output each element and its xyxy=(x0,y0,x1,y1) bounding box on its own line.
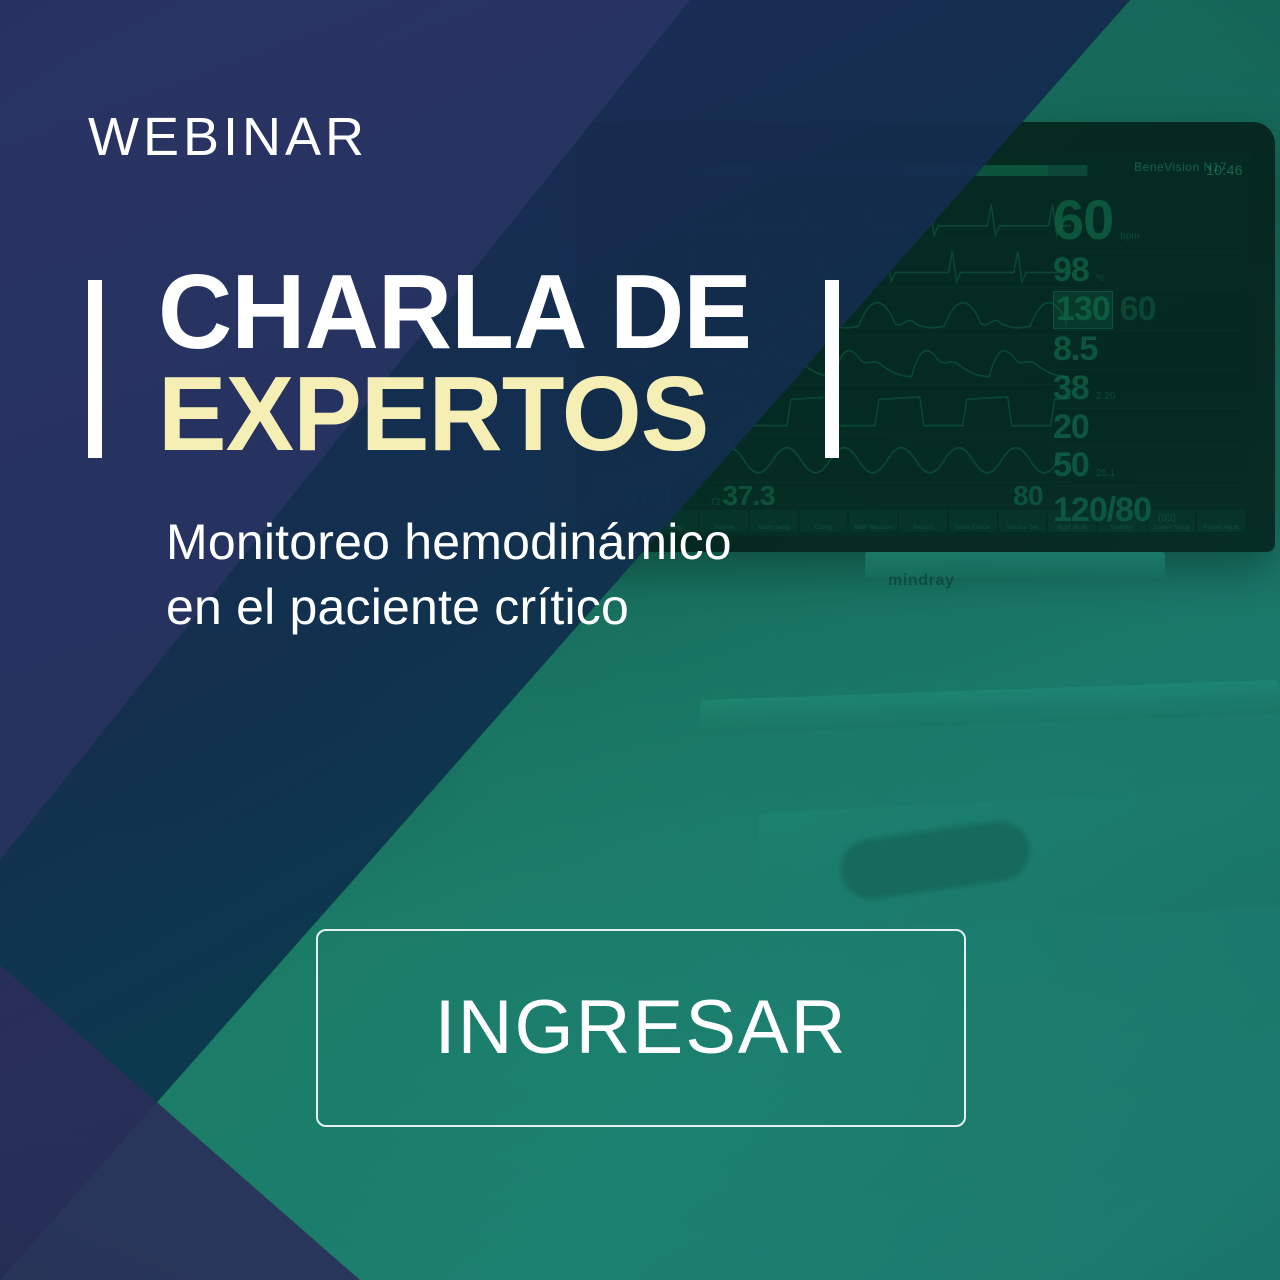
left-vertical-rule xyxy=(88,280,102,458)
page-title-line-2: EXPERTOS xyxy=(158,364,751,466)
subtitle-line-2: en el paciente crítico xyxy=(166,575,732,640)
title-lines: CHARLA DE EXPERTOS xyxy=(102,262,825,466)
right-vertical-rule xyxy=(825,280,839,458)
page-title-line-1: CHARLA DE xyxy=(158,262,751,364)
title-block: CHARLA DE EXPERTOS xyxy=(88,262,839,466)
ingresar-button[interactable]: INGRESAR xyxy=(316,929,966,1127)
eyebrow-label: WEBINAR xyxy=(88,110,368,164)
subtitle-line-1: Monitoreo hemodinámico xyxy=(166,510,732,575)
banner-content: WEBINAR CHARLA DE EXPERTOS Monitoreo hem… xyxy=(0,0,1280,1280)
subtitle: Monitoreo hemodinámico en el paciente cr… xyxy=(166,510,732,640)
ingresar-button-label: INGRESAR xyxy=(435,990,848,1066)
webinar-promo-banner: ICU 25 Jon Doe 10:46 xyxy=(0,0,1280,1280)
